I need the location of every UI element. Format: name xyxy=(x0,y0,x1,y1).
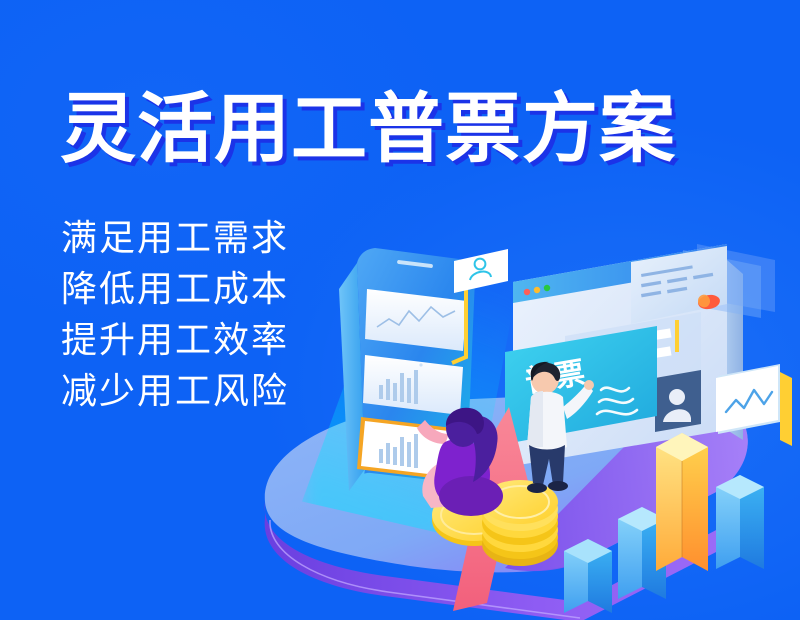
page-title: 灵活用工普票方案 xyxy=(60,92,676,168)
promotional-banner: 灵活用工普票方案 满足用工需求 降低用工成本 提升用工效率 减少用工风险 xyxy=(0,0,800,620)
bar-3-highlight xyxy=(656,433,708,571)
illustration: 普票 xyxy=(250,240,800,620)
bar-4 xyxy=(716,475,764,569)
woman-figure xyxy=(415,400,520,530)
credit-card-group xyxy=(625,240,785,350)
connector-post xyxy=(780,372,792,446)
isometric-bar-chart xyxy=(560,415,775,615)
bar-1 xyxy=(564,539,612,613)
user-badge-card xyxy=(450,245,520,355)
